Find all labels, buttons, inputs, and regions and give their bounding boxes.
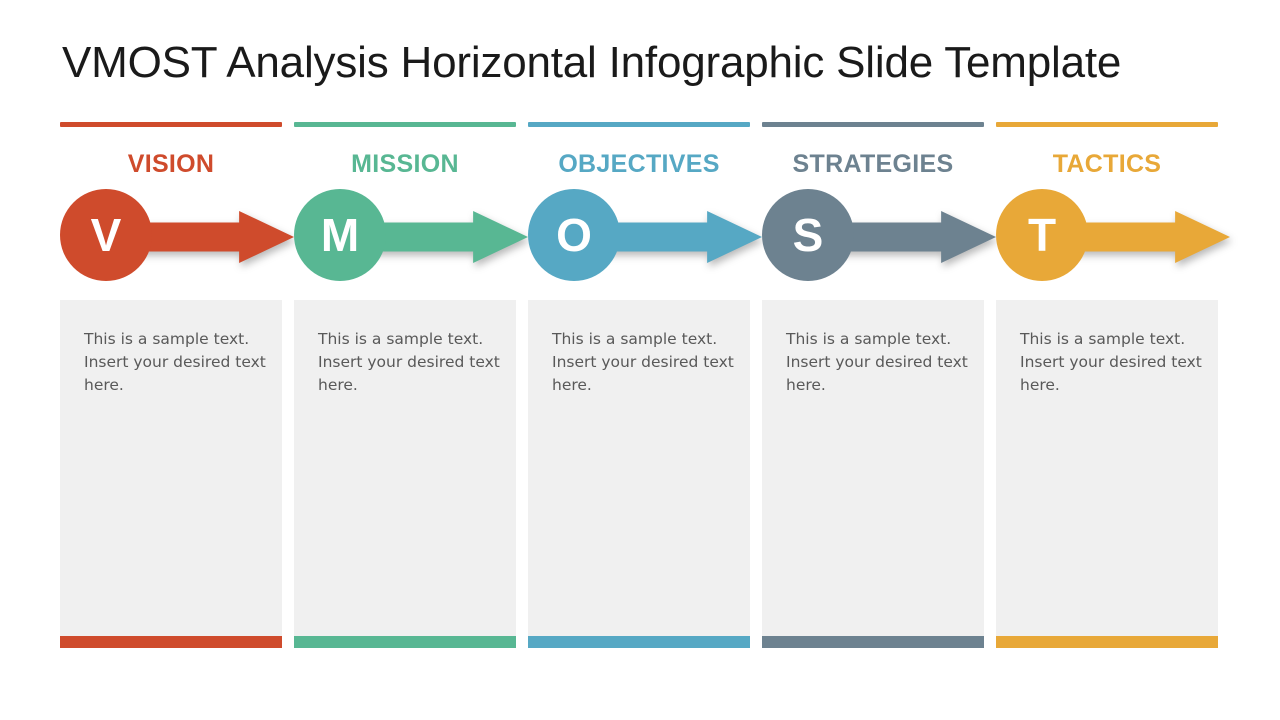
column-graphic: S xyxy=(762,189,984,285)
page-title: VMOST Analysis Horizontal Infographic Sl… xyxy=(62,38,1121,88)
column-header-label: MISSION xyxy=(294,149,516,179)
column-top-rule xyxy=(528,122,750,127)
column-graphic: M xyxy=(294,189,516,285)
column-header-label: STRATEGIES xyxy=(762,149,984,179)
column-content-panel[interactable]: This is a sample text. Insert your desir… xyxy=(528,300,750,648)
column-body-text: This is a sample text. Insert your desir… xyxy=(552,328,736,397)
column-header-label: TACTICS xyxy=(996,149,1218,179)
column-header-label: VISION xyxy=(60,149,282,179)
column-bottom-bar xyxy=(528,636,750,648)
column-body-text: This is a sample text. Insert your desir… xyxy=(786,328,970,397)
column-top-rule xyxy=(762,122,984,127)
column-letter-badge: M xyxy=(294,189,386,281)
vmost-column-tactics[interactable]: TACTICS T This is a sample text. Insert … xyxy=(996,122,1218,648)
column-top-rule xyxy=(996,122,1218,127)
column-graphic: O xyxy=(528,189,750,285)
vmost-column-objectives[interactable]: OBJECTIVES O This is a sample text. Inse… xyxy=(528,122,750,648)
column-graphic: T xyxy=(996,189,1218,285)
column-bottom-bar xyxy=(996,636,1218,648)
column-body-text: This is a sample text. Insert your desir… xyxy=(318,328,502,397)
column-header-label: OBJECTIVES xyxy=(528,149,750,179)
column-top-rule xyxy=(294,122,516,127)
column-body-text: This is a sample text. Insert your desir… xyxy=(84,328,268,397)
column-letter-badge: O xyxy=(528,189,620,281)
column-top-rule xyxy=(60,122,282,127)
column-content-panel[interactable]: This is a sample text. Insert your desir… xyxy=(294,300,516,648)
column-bottom-bar xyxy=(762,636,984,648)
column-content-panel[interactable]: This is a sample text. Insert your desir… xyxy=(996,300,1218,648)
column-letter-badge: T xyxy=(996,189,1088,281)
vmost-column-mission[interactable]: MISSION M This is a sample text. Insert … xyxy=(294,122,516,648)
column-bottom-bar xyxy=(60,636,282,648)
vmost-column-strategies[interactable]: STRATEGIES S This is a sample text. Inse… xyxy=(762,122,984,648)
column-content-panel[interactable]: This is a sample text. Insert your desir… xyxy=(762,300,984,648)
column-bottom-bar xyxy=(294,636,516,648)
column-graphic: V xyxy=(60,189,282,285)
vmost-columns: VISION V This is a sample text. Insert y… xyxy=(60,122,1218,648)
slide-canvas: VMOST Analysis Horizontal Infographic Sl… xyxy=(0,0,1280,720)
column-letter-badge: V xyxy=(60,189,152,281)
vmost-column-vision[interactable]: VISION V This is a sample text. Insert y… xyxy=(60,122,282,648)
column-body-text: This is a sample text. Insert your desir… xyxy=(1020,328,1204,397)
column-content-panel[interactable]: This is a sample text. Insert your desir… xyxy=(60,300,282,648)
column-letter-badge: S xyxy=(762,189,854,281)
